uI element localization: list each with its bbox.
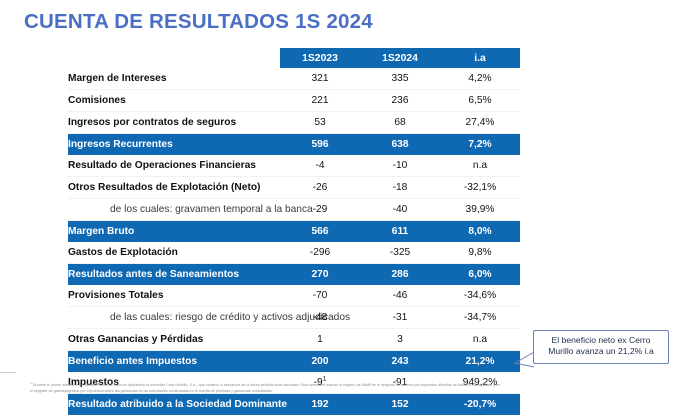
- row-label: de los cuales: gravamen temporal a la ba…: [68, 199, 280, 221]
- cell-1s2024: 335: [360, 68, 440, 90]
- cell-1s2024: -31: [360, 307, 440, 329]
- table-row: Resultado atribuido a la Sociedad Domina…: [68, 394, 520, 416]
- cell-1s2023: -70: [280, 285, 360, 307]
- table-row: de las cuales: riesgo de crédito y activ…: [68, 307, 520, 329]
- column-header-label: [68, 48, 280, 68]
- cell-1s2024: 286: [360, 264, 440, 286]
- cell-1s2024: -18: [360, 177, 440, 199]
- cell-variation: 6,5%: [440, 90, 520, 112]
- row-label: Otros Resultados de Explotación (Neto): [68, 177, 280, 199]
- cell-1s2024: -10: [360, 155, 440, 177]
- cell-1s2024: -325: [360, 242, 440, 264]
- table-row: Beneficio antes Impuestos20024321,2%: [68, 351, 520, 373]
- footnote-marker: 1: [30, 381, 32, 385]
- income-statement-table-container: 1S2023 1S2024 i.a Margen de Intereses321…: [68, 48, 520, 415]
- table-body: Margen de Intereses3213354,2%Comisiones2…: [68, 68, 520, 415]
- column-header-variation: i.a: [440, 48, 520, 68]
- table-row: Provisiones Totales-70-46-34,6%: [68, 285, 520, 307]
- cell-variation: -34,7%: [440, 307, 520, 329]
- cell-variation: 27,4%: [440, 112, 520, 134]
- cell-1s2023: 321: [280, 68, 360, 90]
- cell-variation: 4,2%: [440, 68, 520, 90]
- row-label: Ingresos Recurrentes: [68, 134, 280, 156]
- row-label: Margen Bruto: [68, 221, 280, 243]
- callout-box: El beneficio neto ex Cerro Murillo avanz…: [533, 330, 669, 364]
- table-row: Otras Ganancias y Pérdidas13n.a: [68, 329, 520, 351]
- row-label: Resultado de Operaciones Financieras: [68, 155, 280, 177]
- cell-1s2024: 236: [360, 90, 440, 112]
- cell-variation: -20,7%: [440, 394, 520, 416]
- cell-1s2023: -296: [280, 242, 360, 264]
- cell-variation: n.a: [440, 155, 520, 177]
- row-label: Otras Ganancias y Pérdidas: [68, 329, 280, 351]
- cell-1s2023: -4: [280, 155, 360, 177]
- table-row: Otros Resultados de Explotación (Neto)-2…: [68, 177, 520, 199]
- cell-1s2024: 3: [360, 329, 440, 351]
- cell-1s2023: 221: [280, 90, 360, 112]
- cell-variation: 39,9%: [440, 199, 520, 221]
- cell-variation: 7,2%: [440, 134, 520, 156]
- footnote-divider: [0, 372, 16, 373]
- row-label: Provisiones Totales: [68, 285, 280, 307]
- row-label: Gastos de Explotación: [68, 242, 280, 264]
- cell-1s2024: -46: [360, 285, 440, 307]
- page-title: CUENTA DE RESULTADOS 1S 2024: [24, 10, 373, 34]
- table-row: Ingresos Recurrentes5966387,2%: [68, 134, 520, 156]
- table-row: Ingresos por contratos de seguros536827,…: [68, 112, 520, 134]
- cell-1s2024: 638: [360, 134, 440, 156]
- cell-1s2023: -26: [280, 177, 360, 199]
- cell-1s2024: 152: [360, 394, 440, 416]
- cell-1s2024: 243: [360, 351, 440, 373]
- table-row: Resultado de Operaciones Financieras-4-1…: [68, 155, 520, 177]
- table-row: de los cuales: gravamen temporal a la ba…: [68, 199, 520, 221]
- cell-1s2023: 192: [280, 394, 360, 416]
- cell-variation: -34,6%: [440, 285, 520, 307]
- column-header-1s2023: 1S2023: [280, 48, 360, 68]
- cell-1s2024: -40: [360, 199, 440, 221]
- footnote-text: Durante el primer semestre del ejercicio…: [30, 383, 500, 393]
- row-label: Resultados antes de Saneamientos: [68, 264, 280, 286]
- table-row: Margen Bruto5666118,0%: [68, 221, 520, 243]
- cell-variation: -32,1%: [440, 177, 520, 199]
- cell-1s2023: 200: [280, 351, 360, 373]
- row-label: Margen de Intereses: [68, 68, 280, 90]
- table-row: Comisiones2212366,5%: [68, 90, 520, 112]
- table-row: Gastos de Explotación-296-3259,8%: [68, 242, 520, 264]
- income-statement-table: 1S2023 1S2024 i.a Margen de Intereses321…: [68, 48, 520, 415]
- cell-1s2023: 270: [280, 264, 360, 286]
- row-label: Resultado atribuido a la Sociedad Domina…: [68, 394, 280, 416]
- cell-1s2024: 68: [360, 112, 440, 134]
- column-header-1s2024: 1S2024: [360, 48, 440, 68]
- cell-1s2024: 611: [360, 221, 440, 243]
- row-label: Ingresos por contratos de seguros: [68, 112, 280, 134]
- cell-1s2023: 566: [280, 221, 360, 243]
- table-header-row: 1S2023 1S2024 i.a: [68, 48, 520, 68]
- cell-variation: n.a: [440, 329, 520, 351]
- cell-variation: 8,0%: [440, 221, 520, 243]
- footnote: 1 Durante el primer semestre del ejercic…: [30, 381, 500, 395]
- cell-variation: 6,0%: [440, 264, 520, 286]
- cell-1s2023: 53: [280, 112, 360, 134]
- table-row: Resultados antes de Saneamientos2702866,…: [68, 264, 520, 286]
- cell-1s2023: 596: [280, 134, 360, 156]
- row-label: Beneficio antes Impuestos: [68, 351, 280, 373]
- table-row: Margen de Intereses3213354,2%: [68, 68, 520, 90]
- cell-variation: 21,2%: [440, 351, 520, 373]
- cell-1s2023: 1: [280, 329, 360, 351]
- row-label: Comisiones: [68, 90, 280, 112]
- row-label: de las cuales: riesgo de crédito y activ…: [68, 307, 280, 329]
- cell-variation: 9,8%: [440, 242, 520, 264]
